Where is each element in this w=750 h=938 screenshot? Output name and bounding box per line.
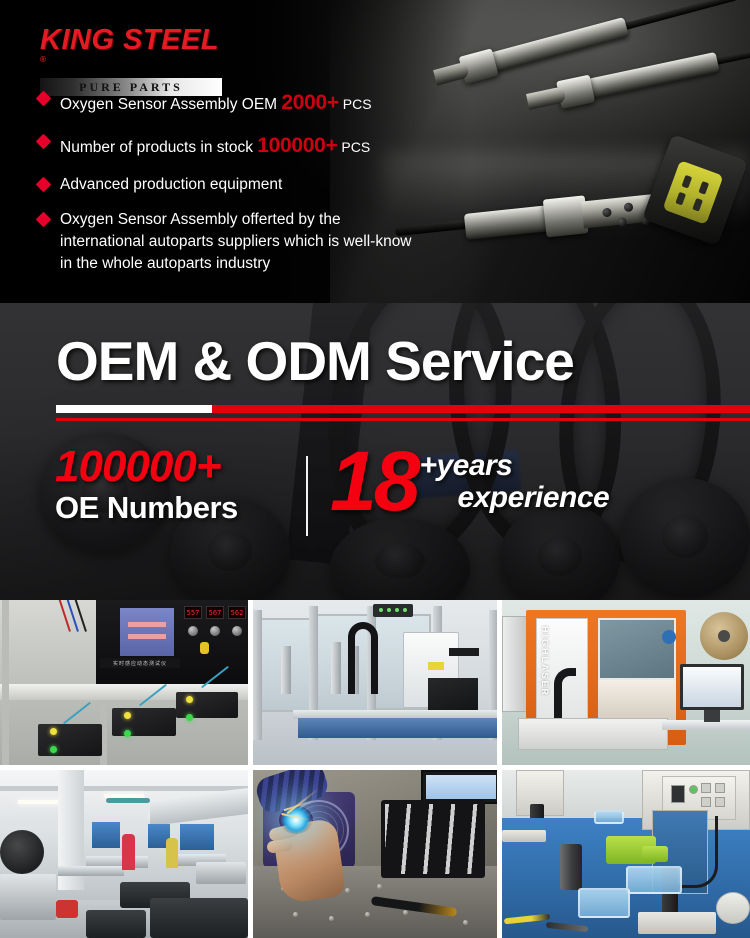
product-banner: KING STEEL® PURE PARTS Oxygen Sensor Ass… — [0, 0, 750, 938]
misc-part — [716, 892, 750, 924]
panel-display-screen — [120, 608, 174, 656]
stats-divider — [306, 456, 308, 536]
material-reel — [700, 612, 748, 660]
digital-readout: 557 — [184, 606, 202, 619]
process-monitor — [381, 800, 485, 878]
feature-text: Oxygen Sensor Assembly offerted by the i… — [60, 209, 412, 275]
feature-highlight: 100000+ — [257, 134, 337, 157]
digital-readout: 562 — [228, 606, 246, 619]
viewing-window — [598, 618, 676, 680]
diamond-bullet-icon — [36, 176, 52, 192]
stat-label: OE Numbers — [55, 491, 295, 525]
cable-conduit — [348, 622, 378, 694]
cable-reel — [0, 830, 44, 874]
secondary-monitor — [421, 770, 497, 804]
diamond-bullet-icon — [36, 134, 52, 150]
stat-number: 100000+ — [55, 444, 295, 491]
feature-text: Advanced production equipment — [60, 174, 282, 196]
diamond-bullet-icon — [36, 211, 52, 227]
feature-highlight: 2000+ — [281, 91, 338, 114]
parts-bin — [594, 810, 624, 824]
feature-item: Oxygen Sensor Assembly offerted by the i… — [38, 209, 438, 275]
ceiling-fan-icon — [106, 798, 150, 803]
stat-number: 18 — [330, 440, 417, 522]
brand-emblem-icon — [662, 630, 676, 644]
machine-brand-label: HIGHLASER — [540, 626, 550, 697]
machine — [196, 862, 246, 884]
feature-item: Oxygen Sensor Assembly OEM 2000+ PCS — [38, 88, 438, 118]
machine-base — [518, 718, 668, 750]
side-cabinet — [502, 616, 528, 712]
feature-item: Number of products in stock 100000+ PCS — [38, 131, 438, 161]
stacked-goods — [150, 898, 248, 938]
title-underline-white-segment — [56, 405, 212, 413]
feature-text: Number of products in stock 100000+ PCS — [60, 131, 370, 161]
work-bench — [298, 718, 497, 738]
worker-figure — [122, 834, 135, 870]
metal-cylinder — [560, 844, 582, 890]
test-fixture — [112, 708, 176, 736]
feature-text: Oxygen Sensor Assembly OEM 2000+ PCS — [60, 88, 372, 118]
computer-monitor — [680, 664, 744, 710]
digital-readout: 567 — [206, 606, 224, 619]
logo-brand-name: KING STEEL — [40, 26, 219, 55]
gallery-photo-press-workbench — [502, 770, 750, 938]
hero-section: KING STEEL® PURE PARTS Oxygen Sensor Ass… — [0, 0, 750, 303]
panel-chinese-label: 实时感应动态测试仪 — [100, 658, 180, 668]
test-fixture — [176, 692, 238, 718]
gallery-photo-factory-floor — [0, 770, 248, 938]
stat-label-group: +years experience — [419, 440, 609, 513]
gallery-photo-sensor-test-bench: 557 567 562 实时感应动态测试仪 — [0, 600, 248, 765]
registered-trademark-icon: ® — [40, 55, 46, 64]
test-fixture — [38, 724, 102, 756]
gallery-photo-laser-welding — [253, 770, 497, 938]
parts-bin — [578, 888, 630, 918]
stat-label-line2: experience — [457, 482, 609, 514]
gallery-photo-laser-marking-machine: HIGHLASER — [502, 600, 750, 765]
feature-list: Oxygen Sensor Assembly OEM 2000+ PCS Num… — [38, 88, 438, 288]
oem-section-title: OEM & ODM Service — [56, 334, 574, 389]
stacked-goods — [86, 910, 146, 938]
indicator-lamp — [200, 642, 209, 654]
green-tray — [642, 846, 668, 862]
factory-photo-grid: 557 567 562 实时感应动态测试仪 — [0, 600, 750, 938]
controller-box — [373, 604, 413, 617]
stat-label-line1: +years — [419, 450, 609, 482]
control-panel: 557 567 562 实时感应动态测试仪 — [96, 600, 248, 684]
stats-row: 100000+ OE Numbers 18 +years experience — [0, 440, 750, 550]
stat-years-experience: 18 +years experience — [330, 440, 730, 522]
gallery-photo-assembly-line — [253, 600, 497, 765]
brand-logo: KING STEEL® PURE PARTS — [40, 26, 222, 96]
logo-wordmark: KING STEEL® — [40, 26, 222, 73]
diamond-bullet-icon — [36, 91, 52, 107]
title-underline-thick — [56, 405, 750, 413]
feature-item: Advanced production equipment — [38, 174, 438, 196]
machine — [0, 874, 56, 920]
parts-bin — [626, 866, 682, 894]
title-underline-thin — [56, 418, 750, 421]
stat-oe-numbers: 100000+ OE Numbers — [55, 444, 295, 525]
worker-figure — [166, 838, 178, 868]
